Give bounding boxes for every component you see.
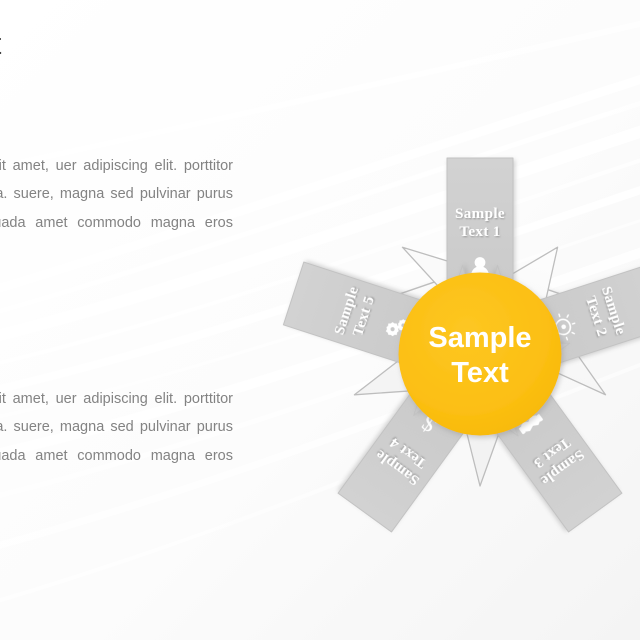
blade-1-label-line2: Text 1 xyxy=(459,223,500,240)
smartart-diagram: Sample Text 1 Sample Text 2 xyxy=(254,128,640,580)
page-title: rtArt xyxy=(0,24,2,64)
center-label-line2: Text xyxy=(451,357,509,389)
slide-canvas: rtArt ipsum dolor sit amet, uer adipisci… xyxy=(0,0,640,640)
blade-1-label-line1: Sample xyxy=(455,205,505,222)
center-core[interactable] xyxy=(399,273,562,436)
body-paragraph-2: ipsum dolor sit amet, uer adipiscing eli… xyxy=(0,385,233,470)
center-label-line1: Sample xyxy=(428,322,531,354)
body-paragraph-1: ipsum dolor sit amet, uer adipiscing eli… xyxy=(0,152,233,237)
